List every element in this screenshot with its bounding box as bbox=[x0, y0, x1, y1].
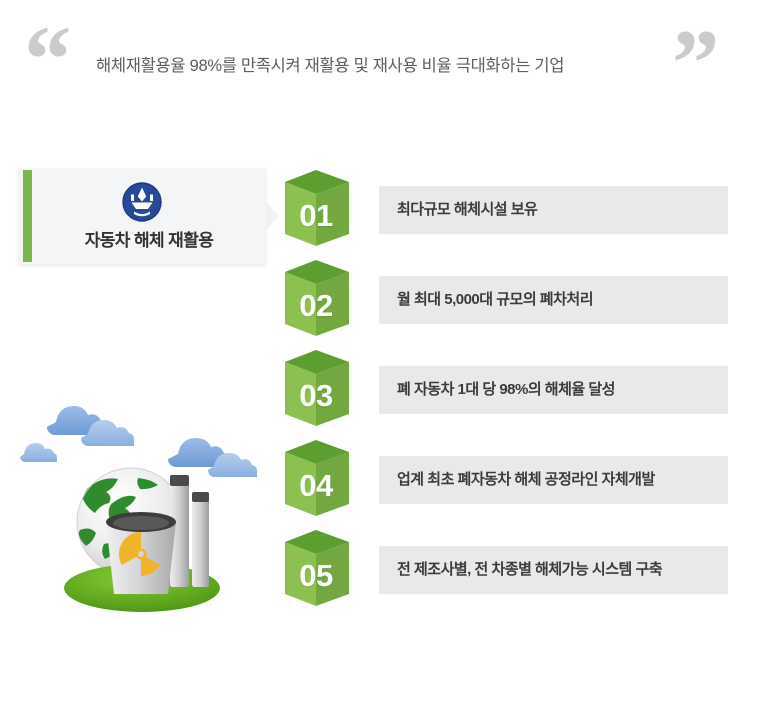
cooling-tower-icon bbox=[106, 512, 176, 594]
category-card[interactable]: 자동차 해체 재활용 bbox=[18, 168, 266, 264]
step-text-bar: 월 최대 5,000대 규모의 폐차처리 bbox=[379, 276, 728, 324]
step-cube-icon bbox=[283, 168, 361, 254]
category-label: 자동차 해체 재활용 bbox=[32, 226, 266, 251]
step-cube-icon bbox=[283, 438, 361, 524]
category-arrow-icon bbox=[266, 202, 279, 230]
recycling-emblem-icon bbox=[122, 182, 162, 222]
infographic-page: “ ” 해체재활용율 98%를 만족시켜 재활용 및 재사용 비율 극대화하는 … bbox=[0, 0, 774, 702]
quote-headline: 해체재활용율 98%를 만족시켜 재활용 및 재사용 비율 극대화하는 기업 bbox=[96, 52, 666, 76]
cloud-icon-small-left bbox=[20, 443, 57, 462]
step-text-05: 전 제조사별, 전 차종별 해체가능 시스템 구축 bbox=[397, 546, 662, 594]
step-cube-icon bbox=[283, 258, 361, 344]
cloud-icon-right bbox=[168, 438, 257, 477]
step-text-02: 월 최대 5,000대 규모의 폐차처리 bbox=[397, 276, 593, 324]
step-text-03: 폐 자동차 1대 당 98%의 해체율 달성 bbox=[397, 366, 615, 414]
step-row-01: 01 최다규모 해체시설 보유 bbox=[283, 168, 728, 254]
quote-banner: “ ” 해체재활용율 98%를 만족시켜 재활용 및 재사용 비율 극대화하는 … bbox=[0, 0, 774, 130]
quote-close-mark: ” bbox=[672, 16, 720, 111]
step-text-bar: 전 제조사별, 전 차종별 해체가능 시스템 구축 bbox=[379, 546, 728, 594]
step-row-05: 05 전 제조사별, 전 차종별 해체가능 시스템 구축 bbox=[283, 528, 728, 614]
step-text-bar: 최다규모 해체시설 보유 bbox=[379, 186, 728, 234]
cloud-icon-upper-left bbox=[47, 406, 134, 446]
step-text-bar: 폐 자동차 1대 당 98%의 해체율 달성 bbox=[379, 366, 728, 414]
step-row-04: 04 업계 최초 폐자동차 해체 공정라인 자체개발 bbox=[283, 438, 728, 524]
step-text-bar: 업계 최초 폐자동차 해체 공정라인 자체개발 bbox=[379, 456, 728, 504]
smokestack-icon-short bbox=[192, 492, 209, 587]
eco-earth-factory-illustration bbox=[18, 382, 280, 622]
step-text-04: 업계 최초 폐자동차 해체 공정라인 자체개발 bbox=[397, 456, 655, 504]
category-accent-bar bbox=[23, 170, 32, 262]
step-cube-icon bbox=[283, 348, 361, 434]
quote-open-mark: “ bbox=[24, 12, 72, 107]
step-row-03: 03 폐 자동차 1대 당 98%의 해체율 달성 bbox=[283, 348, 728, 434]
step-row-02: 02 월 최대 5,000대 규모의 폐차처리 bbox=[283, 258, 728, 344]
step-cube-icon bbox=[283, 528, 361, 614]
step-text-01: 최다규모 해체시설 보유 bbox=[397, 186, 537, 234]
